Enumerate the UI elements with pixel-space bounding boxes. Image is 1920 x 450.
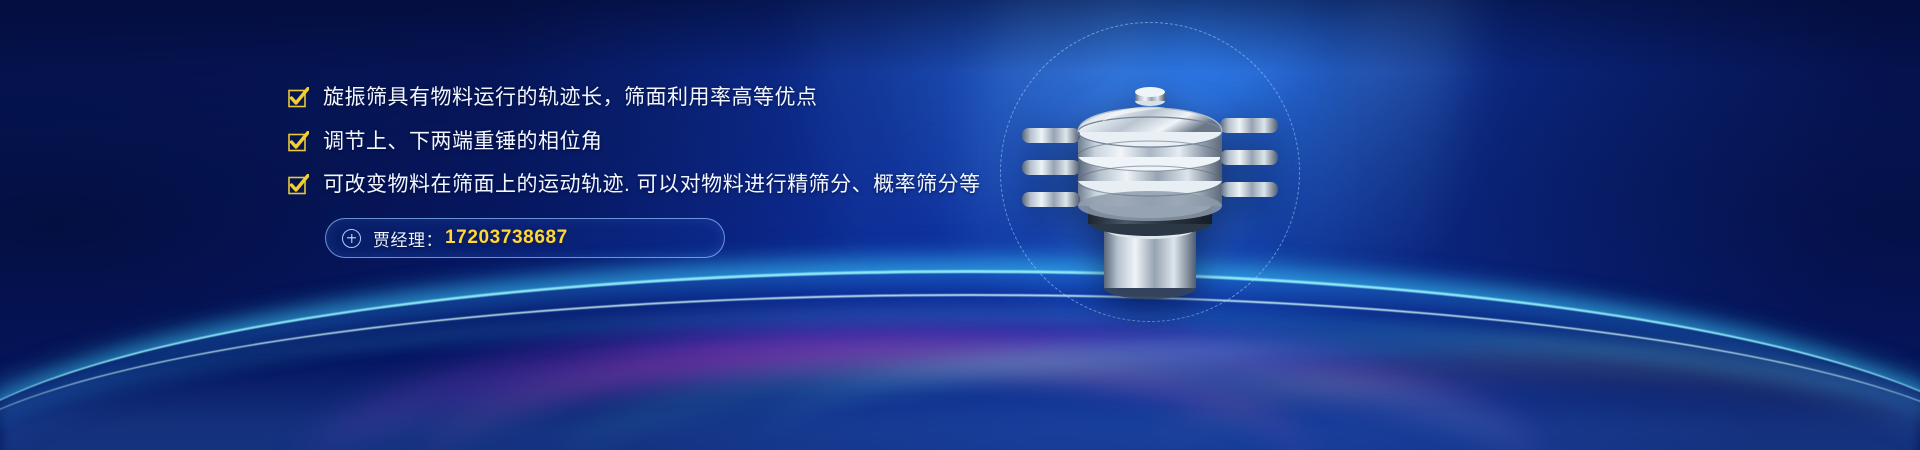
feature-list: 旋振筛具有物料运行的轨迹长，筛面利用率高等优点 调节上、下两端重锤的相位角 可改…: [288, 84, 1048, 215]
list-item-label: 旋振筛具有物料运行的轨迹长，筛面利用率高等优点: [323, 84, 818, 112]
light-streak-group: [0, 180, 1920, 450]
promo-banner: 旋振筛具有物料运行的轨迹长，筛面利用率高等优点 调节上、下两端重锤的相位角 可改…: [0, 0, 1920, 450]
checkbox-checked-icon: [288, 87, 309, 108]
product-illustration: [1000, 22, 1300, 322]
list-item-label: 可改变物料在筛面上的运动轨迹. 可以对物料进行精筛分、概率筛分等: [323, 171, 981, 199]
checkbox-checked-icon: [288, 174, 309, 195]
plus-circle-icon: [342, 229, 361, 248]
list-item: 可改变物料在筛面上的运动轨迹. 可以对物料进行精筛分、概率筛分等: [288, 171, 1048, 199]
list-item: 旋振筛具有物料运行的轨迹长，筛面利用率高等优点: [288, 84, 1048, 112]
contact-phone-number: 17203738687: [445, 227, 568, 249]
bottom-haze: [0, 360, 1920, 450]
contact-name-label: 贾经理：: [373, 226, 443, 251]
checkbox-checked-icon: [288, 131, 309, 152]
list-item: 调节上、下两端重锤的相位角: [288, 128, 1048, 156]
contact-button[interactable]: 贾经理： 17203738687: [325, 218, 725, 258]
list-item-label: 调节上、下两端重锤的相位角: [323, 128, 603, 156]
rotary-vibrating-screen-image: [998, 52, 1302, 312]
